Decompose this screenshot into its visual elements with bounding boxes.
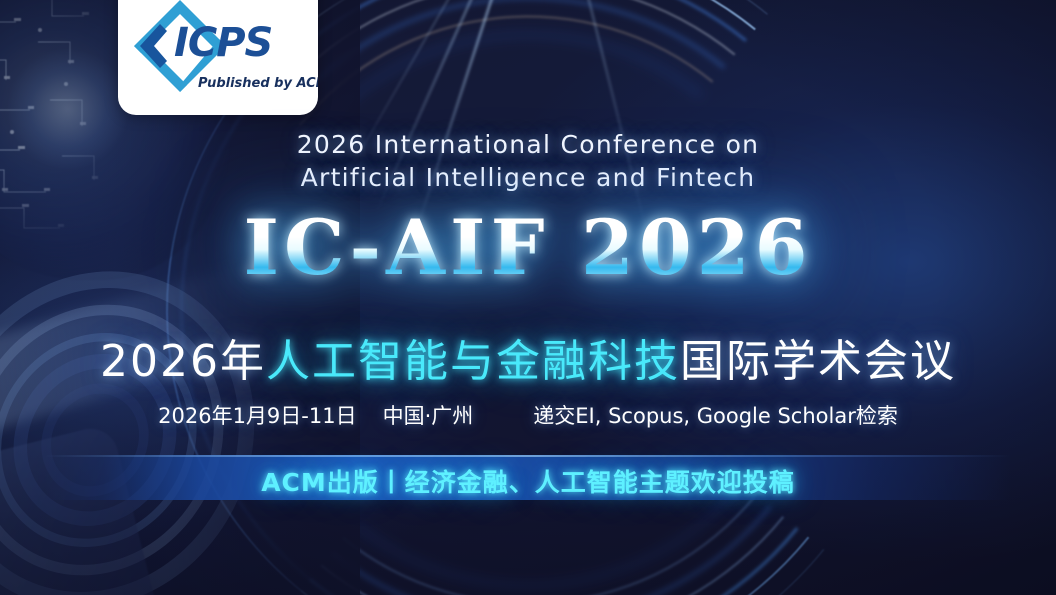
- banner-top-highlight: [45, 455, 1011, 457]
- conference-dates: 2026年1月9日-11日: [158, 400, 356, 430]
- info-line: 2026年1月9日-11日中国·广州递交EI, Scopus, Google S…: [0, 400, 1056, 430]
- chinese-title: 2026年人工智能与金融科技国际学术会议: [0, 325, 1056, 389]
- chinese-title-part-2: 人工智能与金融科技: [266, 336, 680, 387]
- main-title: IC-AIF 2026: [0, 208, 1056, 288]
- banner-text: ACM出版丨经济金融、人工智能主题欢迎投稿: [0, 463, 1056, 499]
- english-title-line-1: 2026 International Conference on: [0, 130, 1056, 159]
- chinese-title-part-1: 2026年: [100, 336, 266, 387]
- conference-location: 中国·广州: [383, 400, 474, 430]
- poster-content: 2026 International Conference on Artific…: [0, 0, 1056, 595]
- chinese-title-part-3: 国际学术会议: [680, 336, 956, 387]
- english-title-line-2: Artificial Intelligence and Fintech: [0, 163, 1056, 192]
- indexing-info: 递交EI, Scopus, Google Scholar检索: [533, 400, 898, 430]
- conference-poster: ICPS Published by ACM 2026 International…: [0, 0, 1056, 595]
